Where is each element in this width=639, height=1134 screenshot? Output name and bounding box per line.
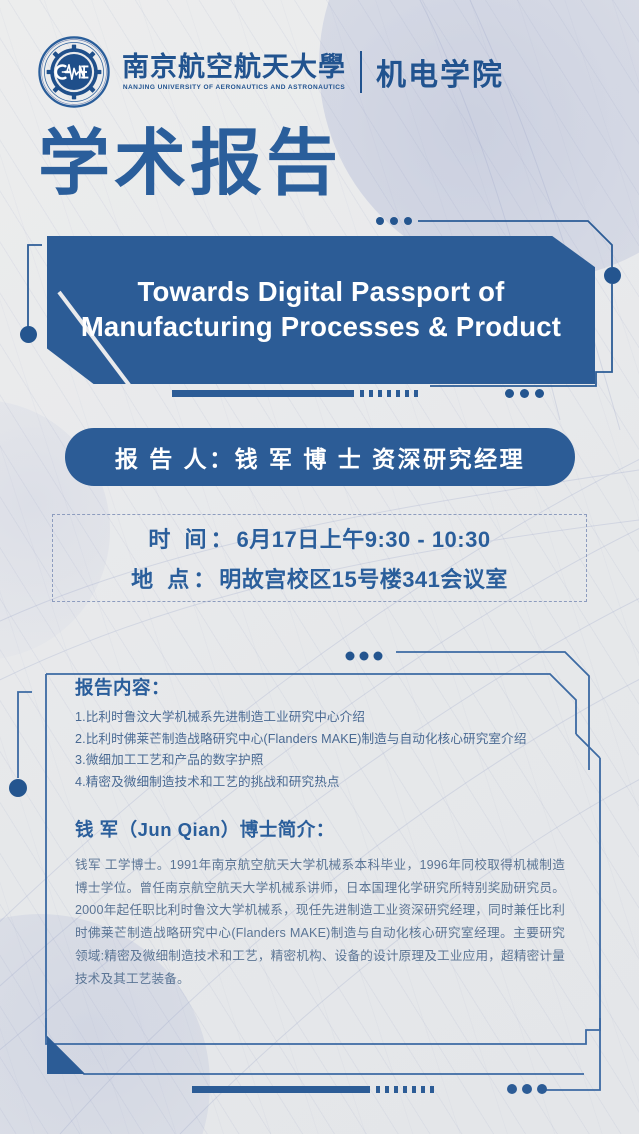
event-time-line: 时 间：6月17日上午9:30 - 10:30 bbox=[148, 522, 490, 554]
poster-header: 南京航空航天大學 NANJING UNIVERSITY OF AERONAUTI… bbox=[38, 36, 504, 108]
event-time-value: 6月17日上午9:30 - 10:30 bbox=[237, 527, 491, 552]
deco-dot-left bbox=[20, 326, 37, 343]
bio-section-heading: 钱 军（Jun Qian）博士简介： bbox=[75, 816, 565, 842]
event-place-label: 地 点： bbox=[131, 567, 219, 592]
deco-tick-2 bbox=[369, 390, 373, 397]
title-banner-region: Towards Digital Passport of Manufacturin… bbox=[0, 212, 639, 402]
list-item: 2.比利时佛莱芒制造战略研究中心(Flanders MAKE)制造与自动化核心研… bbox=[75, 729, 565, 751]
college-name-cn: 机电学院 bbox=[376, 50, 504, 94]
deco-tick-7 bbox=[414, 390, 418, 397]
deco-tick-6 bbox=[405, 390, 409, 397]
event-place-line: 地 点：明故宫校区15号楼341会议室 bbox=[131, 562, 508, 594]
deco-dot-right bbox=[604, 267, 621, 284]
event-info-box: 时 间：6月17日上午9:30 - 10:30 地 点：明故宫校区15号楼341… bbox=[52, 514, 587, 602]
university-name-cn: 南京航空航天大學 bbox=[122, 53, 346, 81]
seminar-poster: 南京航空航天大學 NANJING UNIVERSITY OF AERONAUTI… bbox=[0, 0, 639, 1134]
gme-university-seal-icon bbox=[38, 36, 110, 108]
speaker-banner: 报 告 人：钱 军 博 士 资深研究经理 bbox=[65, 428, 575, 486]
university-name-group: 南京航空航天大學 NANJING UNIVERSITY OF AERONAUTI… bbox=[122, 53, 346, 91]
wordmark-divider bbox=[360, 51, 362, 93]
list-item: 4.精密及微细制造技术和工艺的挑战和研究热点 bbox=[75, 772, 565, 794]
deco-dot-bottom-2 bbox=[520, 389, 529, 398]
list-item: 3.微细加工工艺和产品的数字护照 bbox=[75, 750, 565, 772]
bio-paragraph: 钱军 工学博士。1991年南京航空航天大学机械系本科毕业，1996年同校取得机械… bbox=[75, 854, 565, 991]
bottom-frame-icon bbox=[0, 1014, 639, 1134]
deco-tick-5 bbox=[396, 390, 400, 397]
content-item-list: 1.比利时鲁汶大学机械系先进制造工业研究中心介绍 2.比利时佛莱芒制造战略研究中… bbox=[75, 707, 565, 794]
deco-bar-bottom bbox=[172, 390, 354, 397]
university-name-en: NANJING UNIVERSITY OF AERONAUTICS AND AS… bbox=[123, 84, 345, 91]
university-wordmark: 南京航空航天大學 NANJING UNIVERSITY OF AERONAUTI… bbox=[122, 50, 504, 94]
page-title: 学术报告 bbox=[38, 128, 342, 200]
list-item: 1.比利时鲁汶大学机械系先进制造工业研究中心介绍 bbox=[75, 707, 565, 729]
event-place-value: 明故宫校区15号楼341会议室 bbox=[219, 567, 508, 592]
seminar-title: Towards Digital Passport of Manufacturin… bbox=[47, 236, 595, 384]
content-section-heading: 报告内容： bbox=[75, 674, 565, 700]
deco-tick-1 bbox=[360, 390, 364, 397]
event-time-label: 时 间： bbox=[148, 527, 236, 552]
content-body: 报告内容： 1.比利时鲁汶大学机械系先进制造工业研究中心介绍 2.比利时佛莱芒制… bbox=[75, 674, 565, 991]
deco-tick-4 bbox=[387, 390, 391, 397]
deco-tick-3 bbox=[378, 390, 382, 397]
deco-dot-bottom-1 bbox=[505, 389, 514, 398]
deco-dot-bottom-3 bbox=[535, 389, 544, 398]
